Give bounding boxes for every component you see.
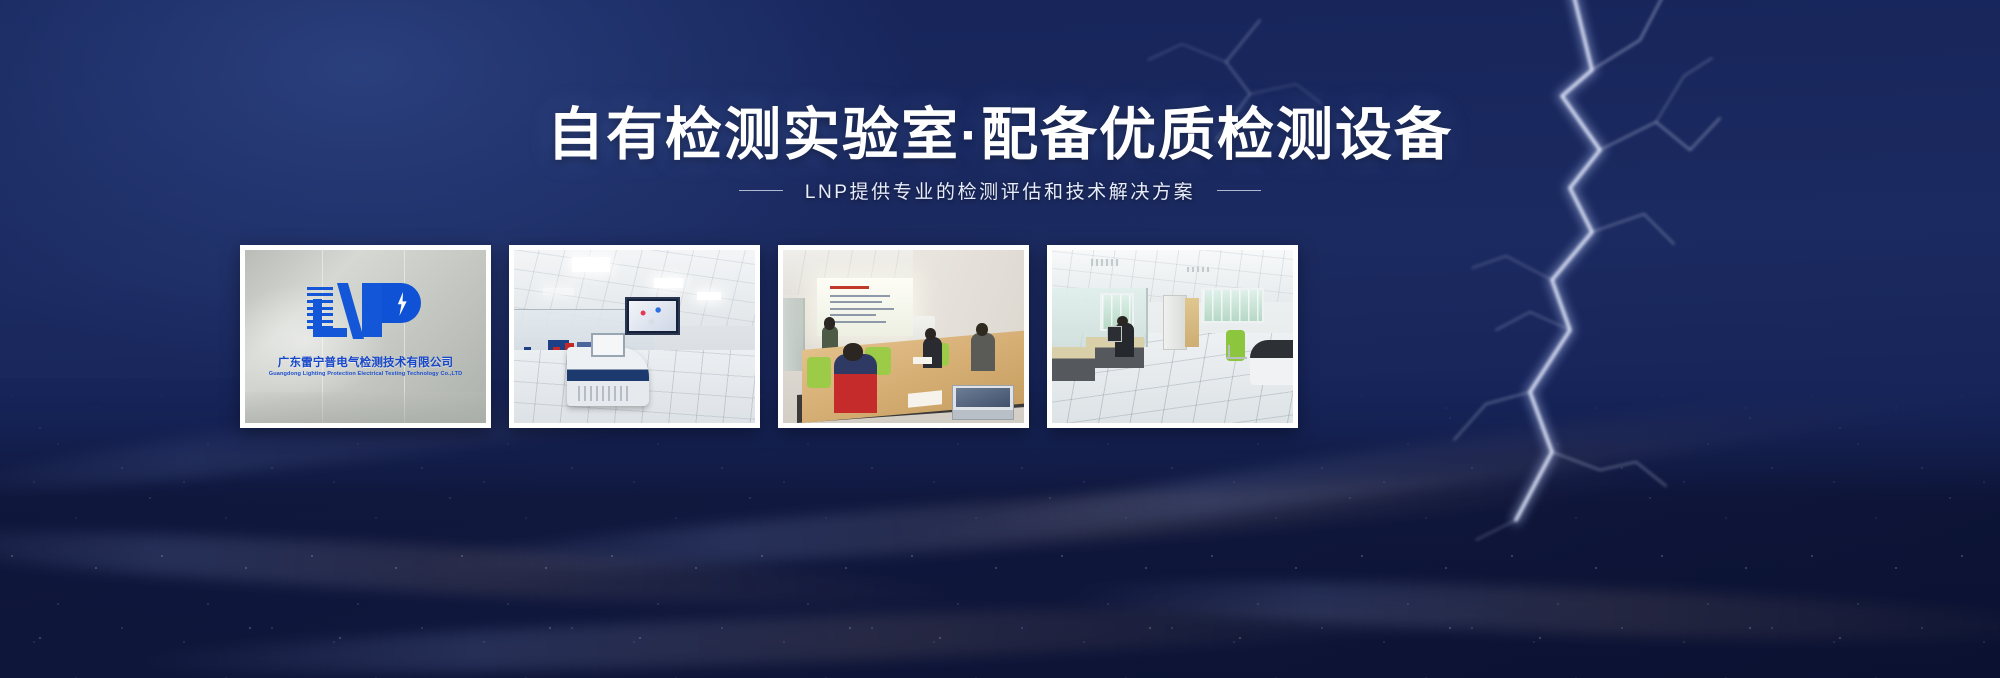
photo-office-area — [1052, 250, 1293, 423]
gallery-item-test-lab[interactable] — [509, 245, 760, 428]
laptop-icon — [952, 385, 1015, 420]
signage-company-en: Guangdong Lighting Protection Electrical… — [269, 371, 462, 377]
photo-company-signage: 广东雷宁普电气检测技术有限公司 Guangdong Lighting Prote… — [245, 250, 486, 423]
gallery-item-company-signage[interactable]: 广东雷宁普电气检测技术有限公司 Guangdong Lighting Prote… — [240, 245, 491, 428]
photo-training-meeting-room — [783, 250, 1024, 423]
reception-counter — [1250, 340, 1293, 385]
page-subtitle: LNP提供专业的检测评估和技术解决方案 — [805, 177, 1195, 204]
page-title: 自有检测实验室·配备优质检测设备 — [0, 104, 2000, 168]
gallery-item-office[interactable] — [1047, 245, 1298, 428]
rule-left-icon — [739, 190, 783, 191]
facility-photo-gallery: 广东雷宁普电气检测技术有限公司 Guangdong Lighting Prote… — [240, 245, 1298, 428]
lnp-logo-icon — [307, 281, 425, 337]
signage-company-cn: 广东雷宁普电气检测技术有限公司 — [278, 354, 454, 370]
wall-display-icon — [625, 297, 680, 335]
photo-high-voltage-test-lab — [514, 250, 755, 423]
rule-right-icon — [1217, 190, 1261, 191]
person-attendee — [971, 333, 995, 371]
person-attendee-front — [834, 354, 877, 413]
gallery-item-meeting-room[interactable] — [778, 245, 1029, 428]
subtitle-row: LNP提供专业的检测评估和技术解决方案 — [0, 177, 2000, 204]
hero-banner: 自有检测实验室·配备优质检测设备 LNP提供专业的检测评估和技术解决方案 广东雷… — [0, 0, 2000, 678]
